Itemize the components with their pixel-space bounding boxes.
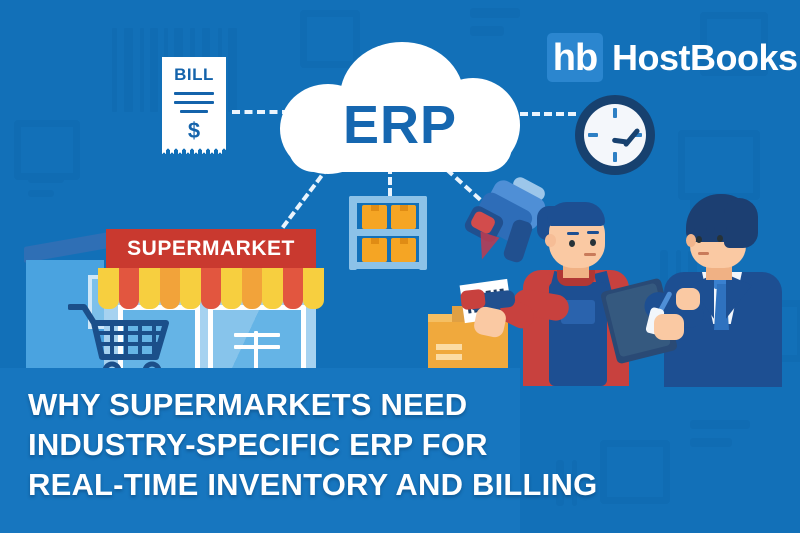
bill-torn-edge	[162, 146, 226, 155]
logo-wordmark: HostBooks	[612, 37, 798, 79]
hostbooks-logo: hb HostBooks	[547, 33, 798, 82]
bill-receipt-icon: BILL $	[162, 57, 226, 155]
erp-banner: BILL $ ERP	[0, 0, 800, 533]
headline-line-1: WHY SUPERMARKETS NEED	[28, 385, 728, 425]
page-title: WHY SUPERMARKETS NEED INDUSTRY-SPECIFIC …	[28, 385, 728, 505]
cloud-icon: ERP	[280, 42, 520, 172]
storefront-icon: SUPERMARKET	[26, 205, 316, 380]
bill-title: BILL	[174, 66, 214, 83]
connector-cloud-to-clock	[520, 112, 576, 116]
cloud-label: ERP	[280, 98, 520, 152]
headline-line-3: REAL-TIME INVENTORY AND BILLING	[28, 465, 728, 505]
store-awning	[98, 268, 324, 296]
store-sign-label: SUPERMARKET	[106, 229, 316, 269]
headline-line-2: INDUSTRY-SPECIFIC ERP FOR	[28, 425, 728, 465]
logo-badge: hb	[547, 33, 603, 82]
bill-currency-symbol: $	[188, 120, 200, 142]
shelf-rack-icon	[349, 196, 427, 270]
logo-badge-text: hb	[553, 39, 597, 77]
bill-body: BILL $	[162, 57, 226, 146]
bill-line	[174, 101, 214, 104]
bill-line	[174, 92, 214, 95]
bill-line	[180, 110, 208, 113]
businessman-illustration	[650, 192, 800, 387]
clock-face	[584, 104, 646, 166]
clock-icon	[575, 95, 655, 175]
